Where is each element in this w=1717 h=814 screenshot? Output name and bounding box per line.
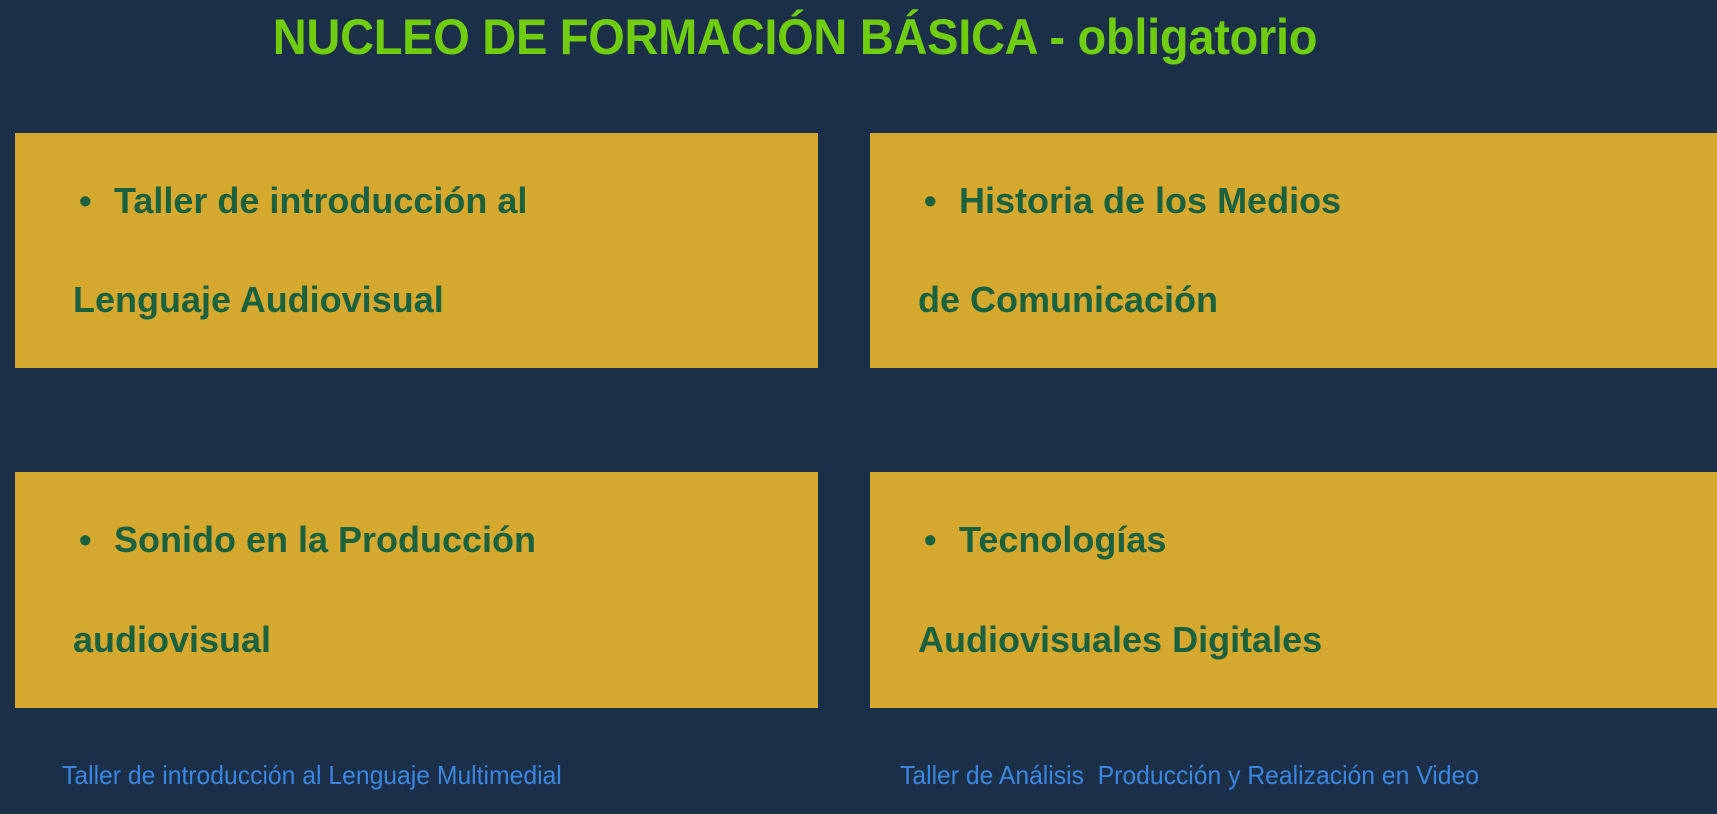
page-title: NUCLEO DE FORMACIÓN BÁSICA - obligatorio xyxy=(48,6,1543,68)
course-title-line-1: Tecnologías xyxy=(959,519,1166,560)
course-card-body: • Tecnologías Audiovisuales Digitales xyxy=(918,521,1717,659)
course-line-1: • Sonido en la Producción xyxy=(73,521,808,559)
course-card-bottom-right[interactable]: • Tecnologías Audiovisuales Digitales xyxy=(870,472,1717,708)
course-card-body: • Sonido en la Producción audiovisual xyxy=(73,521,808,659)
caption-right: Taller de Análisis Producción y Realizac… xyxy=(900,760,1479,791)
course-card-bottom-left[interactable]: • Sonido en la Producción audiovisual xyxy=(15,472,818,708)
bullet-icon: • xyxy=(924,521,937,559)
course-line-1: • Taller de introducción al xyxy=(73,182,808,220)
course-title-line-1: Taller de introducción al xyxy=(114,180,527,221)
bullet-icon: • xyxy=(79,521,92,559)
course-title-line-1: Sonido en la Producción xyxy=(114,519,536,560)
course-title-line-2: de Comunicación xyxy=(918,282,1717,320)
course-card-top-left[interactable]: • Taller de introducción al Lenguaje Aud… xyxy=(15,133,818,368)
caption-left: Taller de introducción al Lenguaje Multi… xyxy=(62,760,562,791)
course-title-line-1: Historia de los Medios xyxy=(959,180,1341,221)
course-card-top-right[interactable]: • Historia de los Medios de Comunicación xyxy=(870,133,1717,368)
bullet-icon: • xyxy=(924,182,937,220)
course-title-line-2: Audiovisuales Digitales xyxy=(918,621,1717,659)
course-title-line-2: audiovisual xyxy=(73,621,808,659)
slide-canvas: NUCLEO DE FORMACIÓN BÁSICA - obligatorio… xyxy=(0,0,1717,814)
course-card-body: • Historia de los Medios de Comunicación xyxy=(918,182,1717,320)
course-line-1: • Tecnologías xyxy=(918,521,1717,559)
bullet-icon: • xyxy=(79,182,92,220)
course-title-line-2: Lenguaje Audiovisual xyxy=(73,282,808,320)
course-card-body: • Taller de introducción al Lenguaje Aud… xyxy=(73,182,808,320)
course-line-1: • Historia de los Medios xyxy=(918,182,1717,220)
